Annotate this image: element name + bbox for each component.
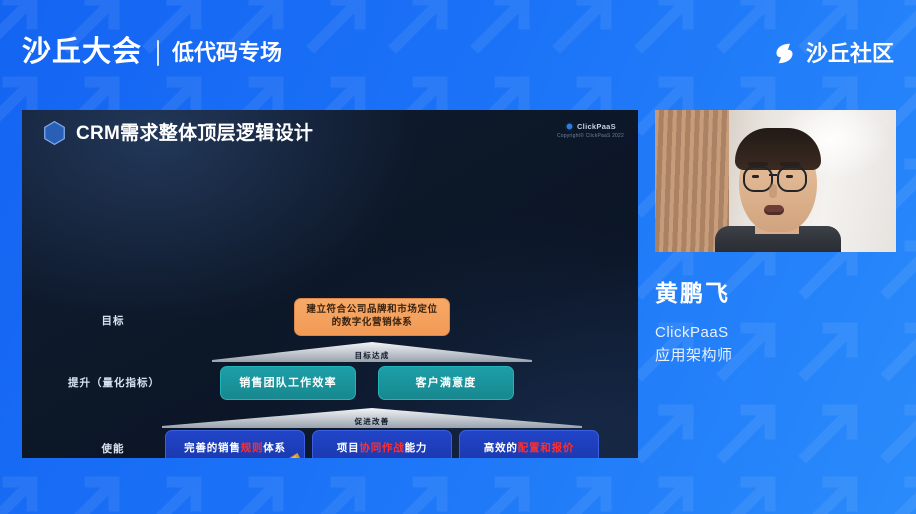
enable-box-2-pre: 项目 <box>337 441 360 455</box>
row-label-goal: 目标 <box>74 313 152 328</box>
clickpaas-logo-icon <box>565 122 574 131</box>
chevron-promote-improvement: 促进改善 <box>162 408 582 428</box>
speaker-eye-left <box>752 175 759 178</box>
copyright-text: Copyright© ClickPaaS 2022 <box>557 134 624 139</box>
speaker-mouth <box>764 205 784 215</box>
speaker-role: 应用架构师 <box>655 345 915 368</box>
page-header: 沙丘大会 低代码专场 沙丘社区 <box>0 0 916 96</box>
enable-box-3-pre: 高效的 <box>484 441 518 455</box>
glasses-bridge <box>769 174 777 176</box>
chevron-goal-achievement: 目标达成 <box>212 342 532 362</box>
chevron-goal-label: 目标达成 <box>212 350 532 361</box>
goal-box-line1: 建立符合公司品牌和市场定位 <box>306 304 437 317</box>
brand-divider <box>157 40 159 66</box>
speaker-nose <box>769 184 777 198</box>
row-label-enable: 使能 <box>74 441 152 456</box>
slide-canvas: CRM需求整体顶层逻辑设计 ClickPaaS Copyright© Click… <box>22 110 638 458</box>
enable-box-config-quote: 高效的配置和报价 <box>459 430 599 458</box>
metric-box-sales-efficiency: 销售团队工作效率 <box>220 366 356 400</box>
speaker-company: ClickPaaS <box>655 322 915 345</box>
speaker-brow-right <box>780 162 800 166</box>
event-brand: 沙丘大会 低代码专场 <box>22 38 282 67</box>
metric-box-customer-satisfaction: 客户满意度 <box>378 366 514 400</box>
slide-title: CRM需求整体顶层逻辑设计 <box>76 124 313 143</box>
goal-box-line2: 的数字化营销体系 <box>332 317 413 330</box>
speaker-webcam-video[interactable] <box>655 110 896 252</box>
speaker-brow-left <box>748 162 768 166</box>
speaker-name: 黄鹏飞 <box>655 282 915 305</box>
goal-box: 建立符合公司品牌和市场定位 的数字化营销体系 <box>294 298 450 336</box>
event-title: 沙丘大会 <box>22 38 142 67</box>
enable-box-1-pre: 完善的销售 <box>184 441 241 455</box>
hexagon-icon <box>42 120 67 146</box>
enable-box-collaboration: 项目协同作战能力 <box>312 430 452 458</box>
enable-box-2-post: 能力 <box>405 441 428 455</box>
community-logo-text: 沙丘社区 <box>806 43 894 65</box>
speaker-eye-right <box>786 175 793 178</box>
slide-header: CRM需求整体顶层逻辑设计 <box>42 120 313 146</box>
presentation-stage: 沙丘大会 低代码专场 沙丘社区 CRM需求整体顶层逻辑设计 <box>0 0 916 514</box>
chevron-improve-label: 促进改善 <box>162 416 582 427</box>
s-swirl-logo-icon <box>771 40 798 67</box>
enable-box-3-highlight: 配置和报价 <box>518 441 575 455</box>
community-logo: 沙丘社区 <box>771 40 894 67</box>
glasses-lens-right <box>777 166 807 192</box>
enable-box-2-highlight: 协同作战 <box>359 441 404 455</box>
enable-box-1-highlight: 规则 <box>241 441 264 455</box>
clickpaas-brand-name: ClickPaaS <box>577 123 616 131</box>
event-subtitle: 低代码专场 <box>172 42 282 64</box>
speaker-info: 黄鹏飞 ClickPaaS 应用架构师 <box>655 282 915 367</box>
row-label-metrics: 提升（量化指标） <box>58 375 170 390</box>
slide-brand-block: ClickPaaS Copyright© ClickPaaS 2022 <box>557 122 624 139</box>
